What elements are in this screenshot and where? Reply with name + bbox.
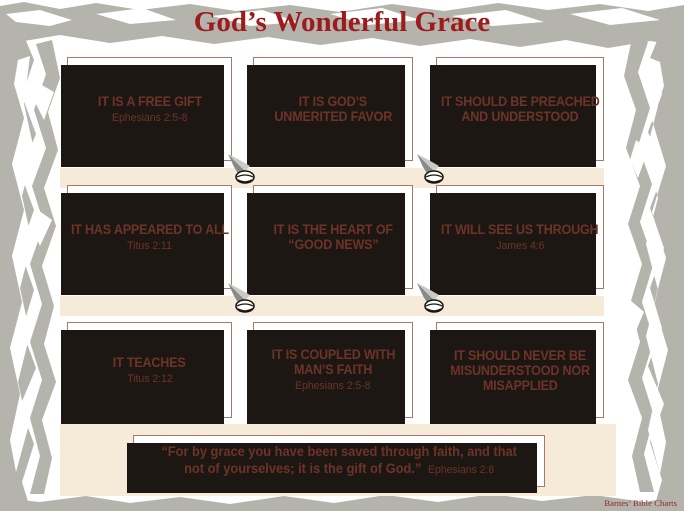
- quote-scripture-reference: Ephesians 2:8: [421, 464, 494, 476]
- grace-point-box-2[interactable]: IT IS GOD’S UNMERITED FAVOR: [253, 57, 413, 161]
- box-heading-line: MISAPPLIED: [483, 378, 558, 393]
- box-scripture-reference: Titus 2:11: [127, 239, 172, 253]
- pointer-arrow-icon: [415, 152, 449, 186]
- box-heading-line: UNMERITED FAVOR: [274, 109, 392, 124]
- bible-chart-canvas: God’s Wonderful Grace IT IS A FREE GIFT …: [0, 0, 684, 511]
- box-heading-line: MISUNDERSTOOD NOR: [450, 363, 590, 378]
- box-heading-line: IT IS GOD’S: [299, 94, 367, 109]
- box-heading-line: IT IS A FREE GIFT: [97, 94, 201, 109]
- box-scripture-reference: Ephesians 2:5-8: [112, 111, 188, 125]
- pointer-arrow-icon: [226, 152, 260, 186]
- grace-point-box-1[interactable]: IT IS A FREE GIFT Ephesians 2:5-8: [67, 57, 232, 161]
- grace-point-box-5[interactable]: IT IS THE HEART OF “GOOD NEWS”: [253, 185, 413, 289]
- box-scripture-reference: James 4:6: [496, 239, 544, 253]
- grace-point-box-7[interactable]: IT TEACHES Titus 2:12: [67, 322, 232, 418]
- pointer-arrow-icon: [415, 281, 449, 315]
- grace-point-box-9[interactable]: IT SHOULD NEVER BE MISUNDERSTOOD NOR MIS…: [436, 322, 604, 418]
- box-heading-line: IT SHOULD NEVER BE: [454, 348, 586, 363]
- box-heading-line: IT SHOULD BE PREACHED: [441, 94, 600, 109]
- box-scripture-reference: Ephesians 2:5-8: [295, 379, 371, 393]
- box-heading-line: IT IS THE HEART OF: [273, 222, 392, 237]
- pointer-arrow-icon: [226, 281, 260, 315]
- box-heading-line: MAN’S FAITH: [294, 362, 372, 377]
- box-heading-line: AND UNDERSTOOD: [461, 109, 578, 124]
- box-heading-line: IT HAS APPEARED TO ALL: [71, 222, 229, 237]
- grace-point-box-6[interactable]: IT WILL SEE US THROUGH James 4:6: [436, 185, 604, 289]
- box-heading-line: IT TEACHES: [113, 355, 186, 370]
- grace-point-box-3[interactable]: IT SHOULD BE PREACHED AND UNDERSTOOD: [436, 57, 604, 161]
- grace-point-box-8[interactable]: IT IS COUPLED WITH MAN’S FAITH Ephesians…: [253, 322, 413, 418]
- box-heading-line: “GOOD NEWS”: [288, 237, 378, 252]
- separator-band-2: [60, 296, 604, 316]
- quote-line-2: not of yourselves; it is the gift of God…: [184, 461, 421, 476]
- summary-quote-box[interactable]: “For by grace you have been saved throug…: [133, 435, 545, 487]
- quote-line-1: “For by grace you have been saved throug…: [161, 443, 517, 460]
- box-heading-line: IT WILL SEE US THROUGH: [441, 222, 599, 237]
- page-title: God’s Wonderful Grace: [0, 6, 684, 39]
- publisher-signature: Barnes’ Bible Charts: [604, 498, 677, 508]
- grace-point-box-4[interactable]: IT HAS APPEARED TO ALL Titus 2:11: [67, 185, 232, 289]
- box-scripture-reference: Titus 2:12: [127, 372, 173, 386]
- box-heading-line: IT IS COUPLED WITH: [271, 347, 395, 362]
